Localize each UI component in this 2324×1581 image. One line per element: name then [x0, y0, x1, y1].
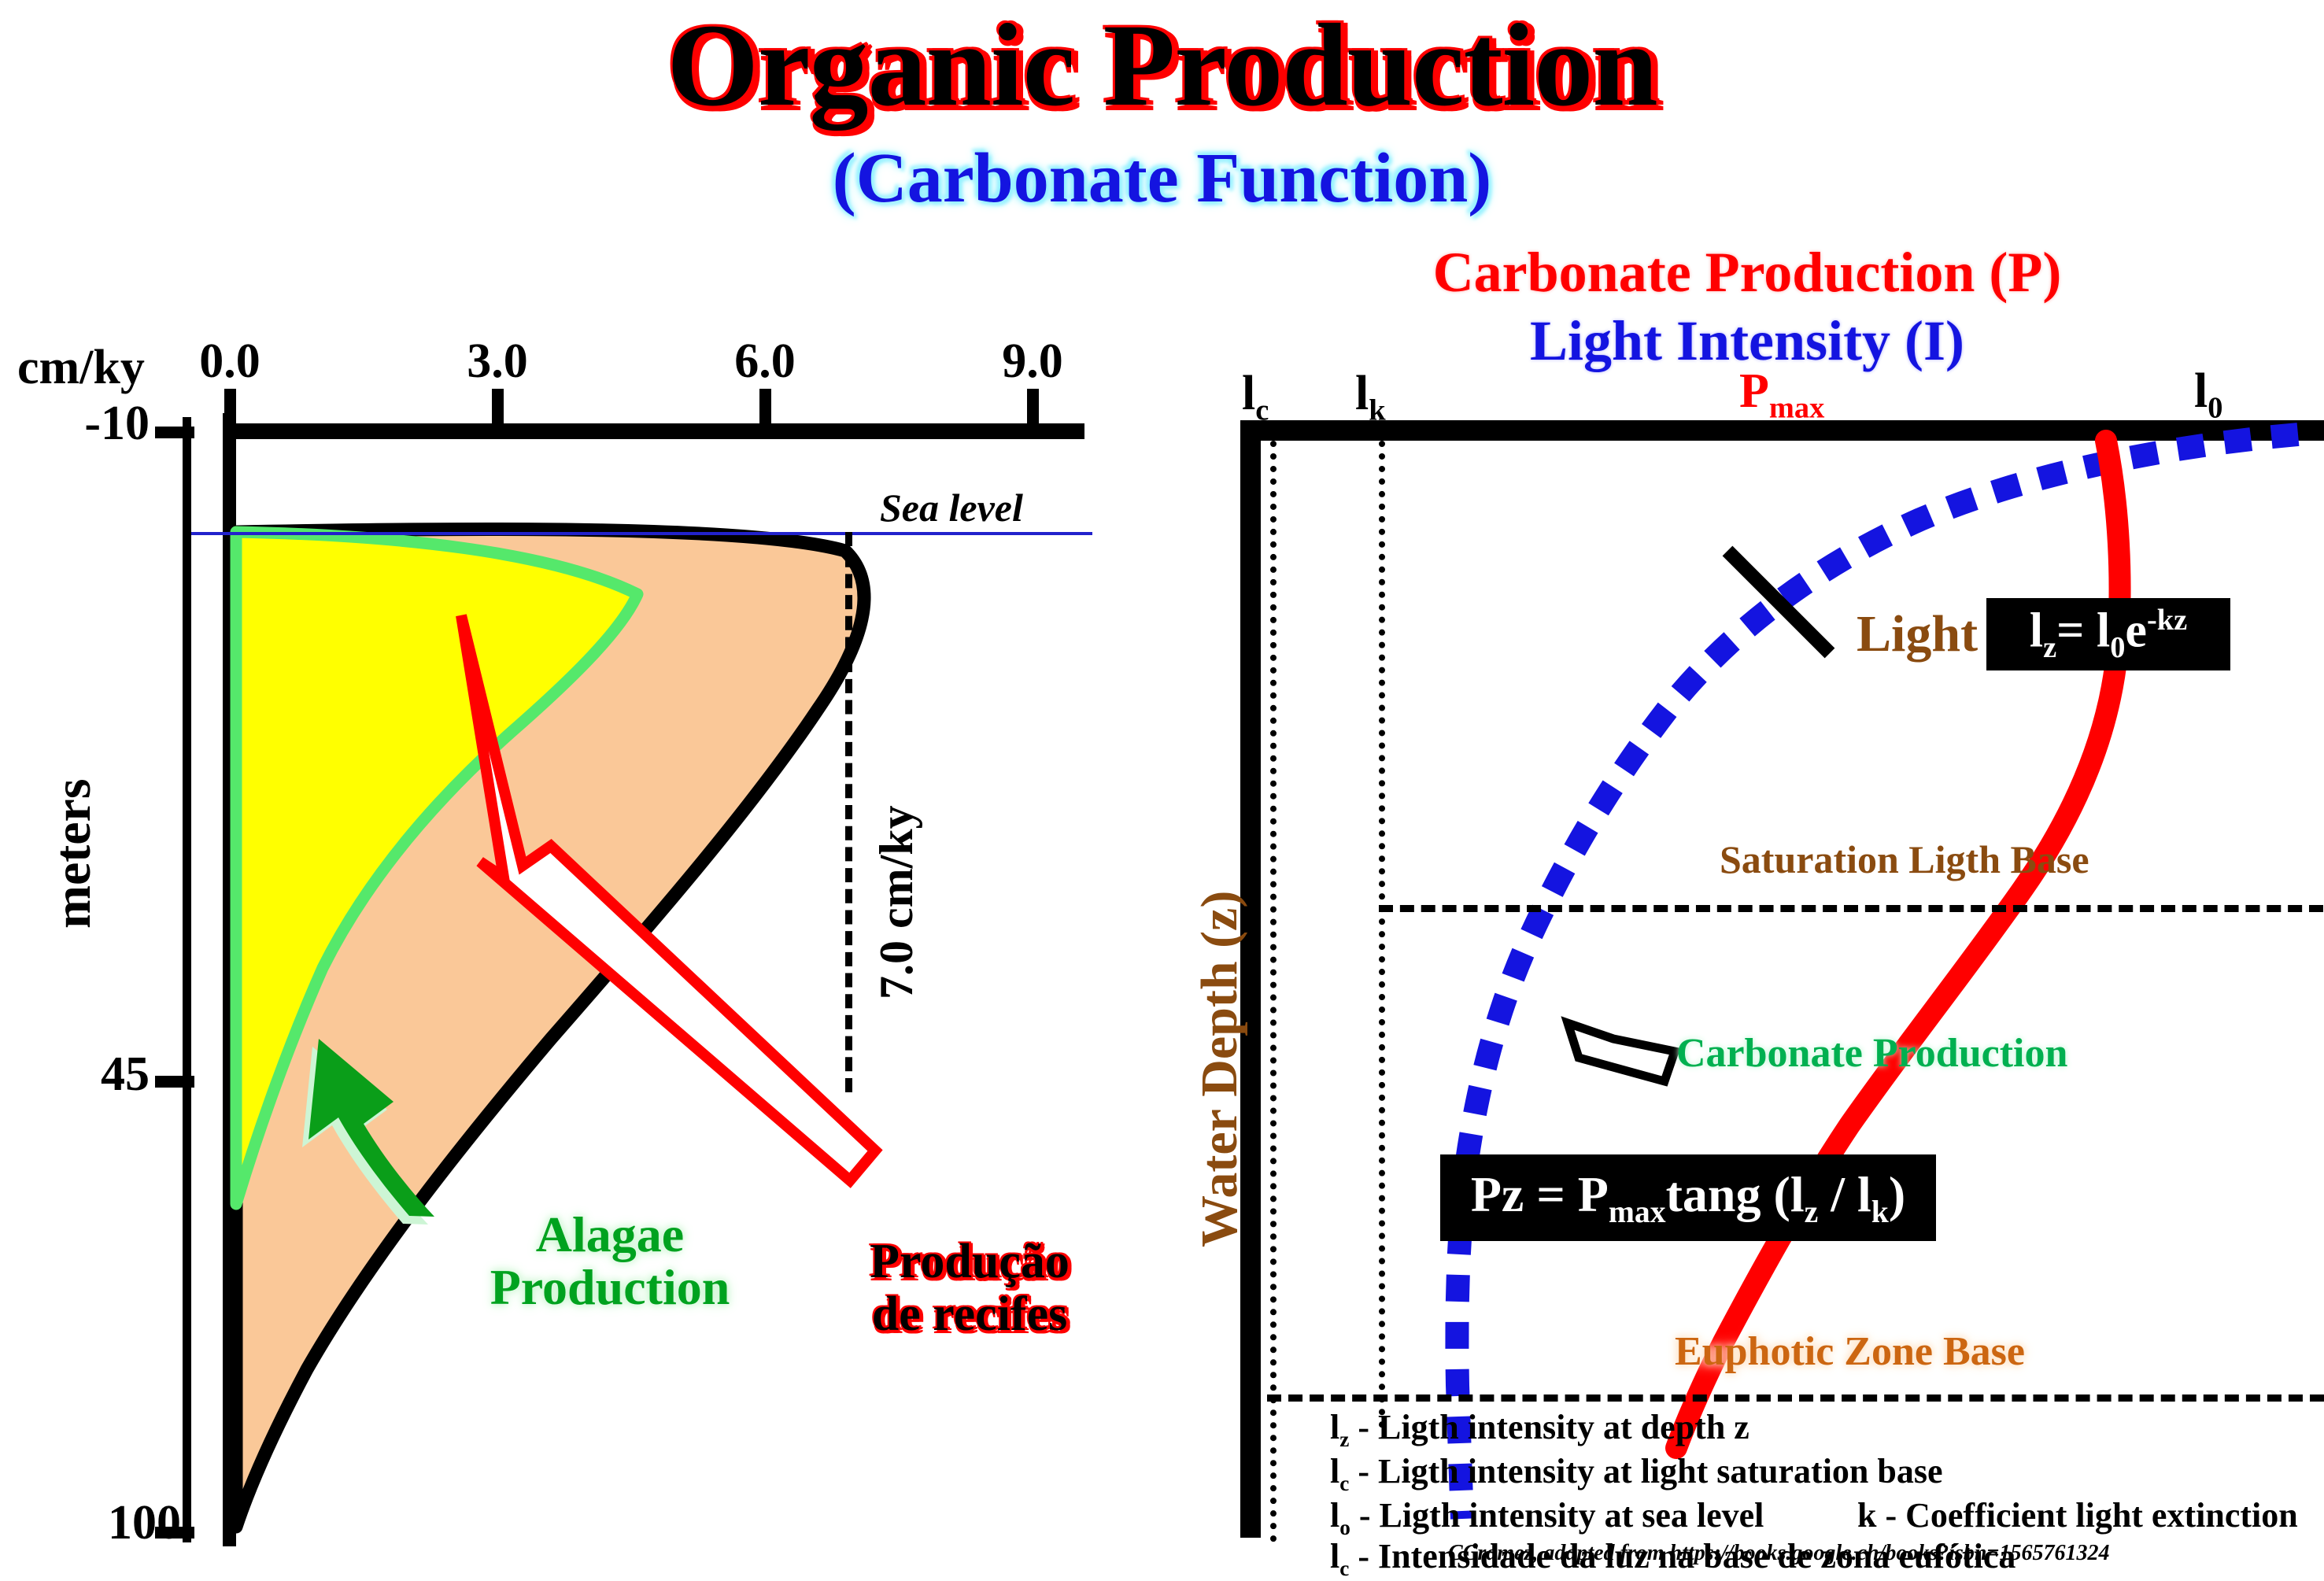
legend-item-lz: lz - Ligth intensity at depth z: [1330, 1407, 1749, 1452]
production-formula-text: Pz = Pmaxtang (lz / lk): [1471, 1165, 1905, 1230]
euphotic-base-label: Euphotic Zone Base: [1675, 1328, 2025, 1375]
reef-label-line1: Produção: [828, 1236, 1111, 1288]
euphotic-base-line: [1267, 1394, 2324, 1402]
reef-label-line2: de recifes: [828, 1288, 1111, 1341]
algae-label-line1: Alagae: [445, 1208, 775, 1261]
algae-label-line2: Production: [445, 1261, 775, 1313]
legend-item-lo: lo - Ligth intensity at sea level: [1330, 1495, 1764, 1540]
carbonate-production-annotation: Carbonate Production: [1676, 1030, 2067, 1077]
reef-production-label: Produção de recifes: [828, 1236, 1111, 1341]
credit-line: CCramez, adapted from https://books.goog…: [1448, 1541, 2109, 1566]
sea-level-line: [191, 532, 1092, 535]
legend-item-lc: lc - Ligth intensity at light saturation…: [1330, 1451, 1943, 1496]
carbonate-production-curve: [1676, 441, 2120, 1448]
light-formula-text: lz= l0e-kz: [2030, 603, 2187, 665]
rate-label: 7.0 cm/ky: [870, 805, 924, 999]
light-word-label: Light: [1857, 604, 1978, 664]
left-chart-panel: cm/ky 0.0 3.0 6.0 9.0 -10 45 100 meters: [0, 0, 1165, 1580]
saturation-base-label: Saturation Ligth Base: [1720, 837, 2089, 882]
sea-level-label: Sea level: [880, 485, 1023, 530]
left-production-curves: [0, 0, 1165, 1580]
saturation-base-line: [1379, 905, 2323, 912]
legend-item-k: k - Coefficient light extinction: [1857, 1495, 2298, 1535]
light-formula-box: lz= l0e-kz: [1986, 598, 2230, 670]
light-leader-line: [1727, 551, 1830, 653]
production-formula-box: Pz = Pmaxtang (lz / lk): [1440, 1154, 1936, 1241]
rate-reference-line: [845, 532, 852, 1092]
algae-production-label: Alagae Production: [445, 1208, 775, 1313]
carbonate-production-arrow: [1568, 1023, 1675, 1081]
